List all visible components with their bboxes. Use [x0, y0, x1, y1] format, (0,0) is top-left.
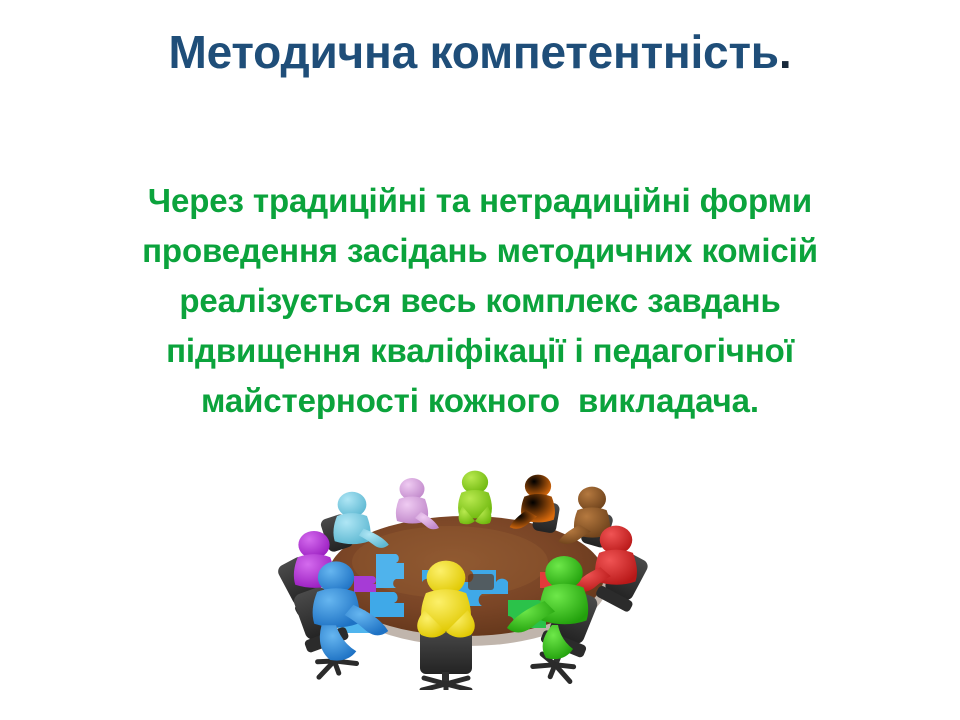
- body-line-5: майстерності кожного викладача.: [78, 376, 882, 426]
- round-table-meeting-svg: [272, 450, 662, 690]
- chair-yellow-group: [420, 628, 472, 690]
- body-text: Через традиційні та нетрадиційні форми п…: [78, 176, 882, 426]
- round-table-meeting-image: [272, 450, 662, 690]
- slide-canvas: Методична компетентність. Через традицій…: [0, 0, 960, 720]
- figure-lime: [458, 471, 492, 525]
- page-title: Методична компетентність.: [0, 26, 960, 79]
- body-line-1: Через традиційні та нетрадиційні форми: [78, 176, 882, 226]
- body-line-3: реалізується весь комплекс завдань: [78, 276, 882, 326]
- page-title-text: Методична компетентність: [169, 26, 779, 78]
- puzzle-piece-purple-small: [354, 576, 376, 592]
- figure-lavender: [396, 478, 439, 529]
- page-title-period: .: [779, 26, 792, 78]
- body-line-4: підвищення кваліфікації і педагогічної: [78, 326, 882, 376]
- figure-cyan: [333, 492, 388, 548]
- body-line-2: проведення засідань методичних комісій: [78, 226, 882, 276]
- figure-orange: [510, 475, 555, 529]
